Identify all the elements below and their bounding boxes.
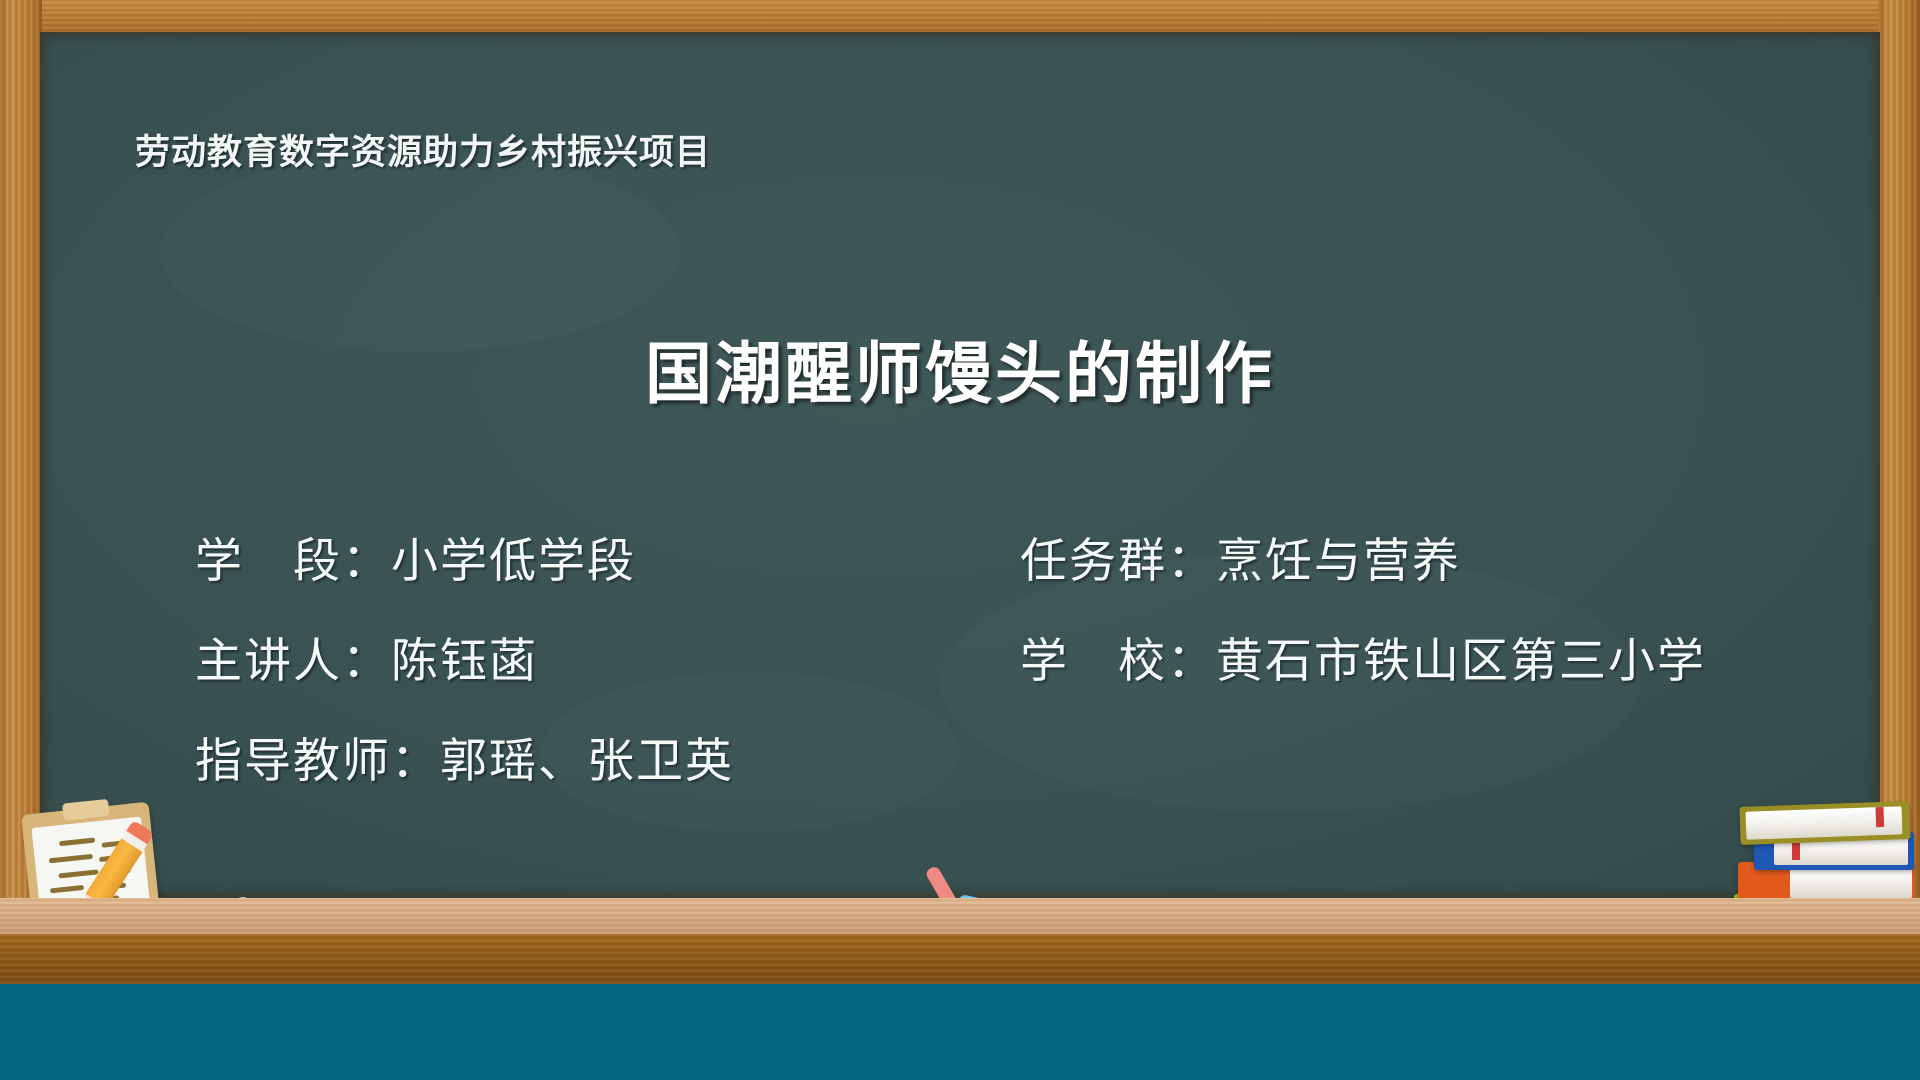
bookmark-olive — [1875, 807, 1884, 827]
ledge-top-surface — [0, 898, 1920, 934]
info-row: 学 段：小学低学段 任务群：烹饪与营养 — [40, 522, 1880, 622]
info-row: 指导教师：郭瑶、张卫英 — [40, 722, 1880, 822]
title-slide: 劳动教育数字资源助力乡村振兴项目 国潮醒师馒头的制作 学 段：小学低学段 任务群… — [0, 0, 1920, 1080]
info-advisor-label: 指导教师：郭瑶、张卫英 — [195, 722, 734, 791]
info-grid: 学 段：小学低学段 任务群：烹饪与营养 主讲人：陈钰菡 学 校：黄石市铁山区第三… — [40, 522, 1880, 822]
project-header: 劳动教育数字资源助力乡村振兴项目 — [135, 124, 711, 175]
info-taskgroup-label: 任务群：烹饪与营养 — [1020, 522, 1461, 591]
info-stage-label: 学 段：小学低学段 — [195, 522, 636, 591]
info-row: 主讲人：陈钰菡 学 校：黄石市铁山区第三小学 — [40, 622, 1880, 722]
book-olive — [1739, 801, 1910, 845]
clipboard-clamp — [62, 799, 110, 821]
info-presenter-label: 主讲人：陈钰菡 — [195, 622, 538, 691]
page-title: 国潮醒师馒头的制作 — [40, 320, 1880, 417]
bottom-color-band — [0, 984, 1920, 1080]
frame-rail-top — [0, 0, 1920, 34]
ledge-front-face — [0, 934, 1920, 984]
chalkboard-surface: 劳动教育数字资源助力乡村振兴项目 国潮醒师馒头的制作 学 段：小学低学段 任务群… — [40, 32, 1880, 898]
chalk-ledge — [0, 898, 1920, 984]
info-school-label: 学 校：黄石市铁山区第三小学 — [1020, 622, 1706, 691]
